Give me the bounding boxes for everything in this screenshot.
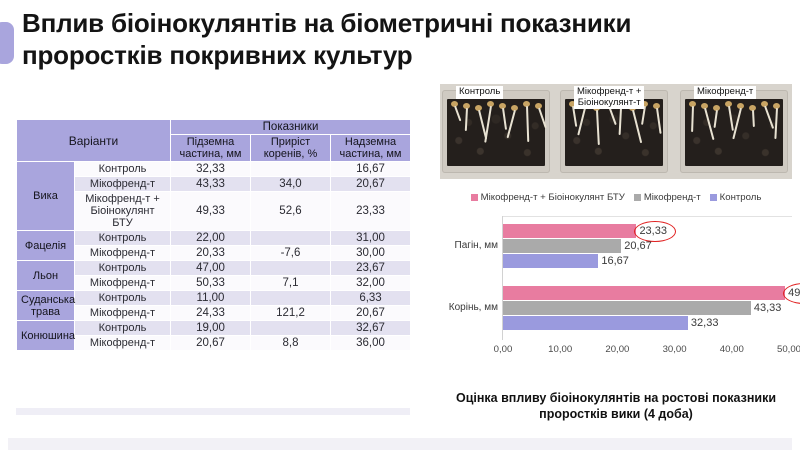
growth-bar-chart: Мікофренд-т + Біоінокулянт БТУМікофренд-… [440,192,792,370]
chart-bar[interactable] [503,286,785,300]
sprout [752,110,755,127]
sprout [714,110,718,128]
chart-x-tick: 40,00 [720,344,744,355]
chart-bar[interactable] [503,224,636,238]
cell-aboveground: 20,67 [331,306,411,321]
cell-treatment: Контроль [75,162,171,177]
cell-treatment: Мікофренд-т [75,246,171,261]
soil-bed [447,99,545,166]
tray-label-3: Мікофренд-т [694,86,756,99]
cell-underground: 19,00 [171,321,251,336]
biometrics-table: Варіанти Показники Підземна частина, мм … [16,119,411,351]
cell-aboveground: 32,00 [331,276,411,291]
table-row: КонюшинаКонтроль19,0032,67 [17,321,411,336]
tray-label-1: Контроль [456,86,503,99]
chart-bar-value: 32,33 [691,317,719,329]
cell-treatment: Мікофренд-т [75,306,171,321]
legend-item-1[interactable]: Мікофренд-т + Біоінокулянт БТУ [471,192,625,203]
legend-label: Мікофренд-т + Біоінокулянт БТУ [481,192,625,203]
chart-x-tick: 20,00 [605,344,629,355]
table-group-5: Конюшина [17,321,75,351]
table-row: Мікофренд-т20,678,836,00 [17,336,411,351]
legend-swatch-icon [710,194,717,201]
legend-swatch-icon [471,194,478,201]
page-title: Вплив біоінокулянтів на біометричні пока… [22,8,722,71]
chart-top-gridline [502,216,792,217]
cell-aboveground: 23,33 [331,192,411,231]
sprout [538,108,547,129]
sprout [764,106,774,129]
cell-underground: 11,00 [171,291,251,306]
seedling-tray-3 [680,90,788,173]
cell-underground: 43,33 [171,177,251,192]
sprout [502,108,507,130]
header-root-growth: Приріст коренів, % [251,135,331,162]
cell-growth: -7,6 [251,246,331,261]
table-row: Мікофренд-т50,337,132,00 [17,276,411,291]
cell-treatment: Мікофренд-т + Біоінокулянт БТУ [75,192,171,231]
sprout [526,106,529,142]
table-body: ВикаКонтроль32,3316,67Мікофренд-т43,3334… [17,162,411,351]
sprout [454,106,461,122]
sprout [656,108,662,134]
cell-treatment: Контроль [75,231,171,246]
chart-caption: Оцінка впливу біоінокулянтів на ростові … [440,390,792,423]
table-row: Суданська траваКонтроль11,006,33 [17,291,411,306]
header-underground: Підземна частина, мм [171,135,251,162]
cell-underground: 49,33 [171,192,251,231]
cell-aboveground: 36,00 [331,336,411,351]
tray-label-2: Мікофренд-т + Біоінокулянт-т [574,86,644,109]
seedling-photo-panel: КонтрольМікофренд-т + Біоінокулянт-тМіко… [440,84,792,179]
cell-treatment: Контроль [75,291,171,306]
header-indicators-group: Показники [171,120,411,135]
cell-aboveground: 20,67 [331,177,411,192]
table-group-1: Вика [17,162,75,231]
cell-growth [251,261,331,276]
table-row: ФацеліяКонтроль22,0031,00 [17,231,411,246]
legend-item-3[interactable]: Контроль [710,192,762,203]
table-group-4: Суданська трава [17,291,75,321]
cell-treatment: Мікофренд-т [75,276,171,291]
sprout [774,108,778,139]
sprout [465,108,468,131]
cell-growth [251,162,331,177]
chart-bar[interactable] [503,254,598,268]
title-accent-bar [0,22,14,64]
chart-bar-value: 20,67 [624,240,652,252]
cell-aboveground: 30,00 [331,246,411,261]
cell-underground: 20,67 [171,336,251,351]
chart-bar[interactable] [503,301,751,315]
sprout [728,106,734,131]
chart-x-tick: 10,00 [548,344,572,355]
cell-treatment: Мікофренд-т [75,336,171,351]
legend-item-2[interactable]: Мікофренд-т [634,192,701,203]
cell-treatment: Контроль [75,321,171,336]
sprout [632,110,642,143]
cell-growth [251,231,331,246]
table-row: Мікофренд-т43,3334,020,67 [17,177,411,192]
cell-underground: 22,00 [171,231,251,246]
legend-label: Контроль [720,192,762,203]
cell-aboveground: 31,00 [331,231,411,246]
cell-growth: 34,0 [251,177,331,192]
sprout [596,110,600,145]
header-aboveground: Надземна частина, мм [331,135,411,162]
sprout [577,108,586,136]
soil-bed [685,99,783,166]
chart-x-axis: 0,0010,0020,0030,0040,0050,00 [440,344,792,360]
cell-aboveground: 32,67 [331,321,411,336]
sprout [484,106,492,143]
table-group-3: Льон [17,261,75,291]
chart-bar-value: 23,33 [639,225,667,237]
chart-bar-value: 43,33 [754,302,782,314]
cell-treatment: Мікофренд-т [75,177,171,192]
cell-underground: 32,33 [171,162,251,177]
chart-category-label: Пагін, мм [440,240,498,251]
cell-underground: 47,00 [171,261,251,276]
table-group-2: Фацелія [17,231,75,261]
cell-underground: 50,33 [171,276,251,291]
header-variants: Варіанти [17,120,171,162]
chart-bar-value: 16,67 [601,255,629,267]
table-row: Мікофренд-т24,33121,220,67 [17,306,411,321]
legend-label: Мікофренд-т [644,192,701,203]
cell-aboveground: 23,67 [331,261,411,276]
table-row: ЛьонКонтроль47,0023,67 [17,261,411,276]
bottom-band [8,438,792,450]
table-header-row-1: Варіанти Показники [17,120,411,135]
cell-growth: 121,2 [251,306,331,321]
cell-growth [251,291,331,306]
cell-growth: 8,8 [251,336,331,351]
chart-x-tick: 50,00 [777,344,800,355]
sprout [691,106,694,132]
cell-aboveground: 16,67 [331,162,411,177]
cell-growth: 52,6 [251,192,331,231]
cell-growth: 7,1 [251,276,331,291]
sprout [507,110,516,139]
chart-category-label: Корінь, мм [440,302,498,313]
legend-swatch-icon [634,194,641,201]
table-footer-bar [16,408,410,415]
table-row: Мікофренд-т20,33-7,630,00 [17,246,411,261]
chart-legend: Мікофренд-т + Біоінокулянт БТУМікофренд-… [440,192,792,203]
chart-x-tick: 30,00 [663,344,687,355]
chart-bar-value: 49,33 [788,287,800,299]
table-row: ВикаКонтроль32,3316,67 [17,162,411,177]
chart-x-tick: 0,00 [494,344,513,355]
sprout [619,108,622,135]
sprout [732,108,742,140]
cell-underground: 24,33 [171,306,251,321]
chart-plot-area: Пагін, мм23,3320,6716,67Корінь, мм49,334… [440,216,792,344]
table-row: Мікофренд-т + Біоінокулянт БТУ49,3352,62… [17,192,411,231]
cell-treatment: Контроль [75,261,171,276]
seedling-tray-1 [442,90,550,173]
cell-underground: 20,33 [171,246,251,261]
cell-growth [251,321,331,336]
chart-bar[interactable] [503,316,688,330]
cell-aboveground: 6,33 [331,291,411,306]
chart-bar[interactable] [503,239,621,253]
